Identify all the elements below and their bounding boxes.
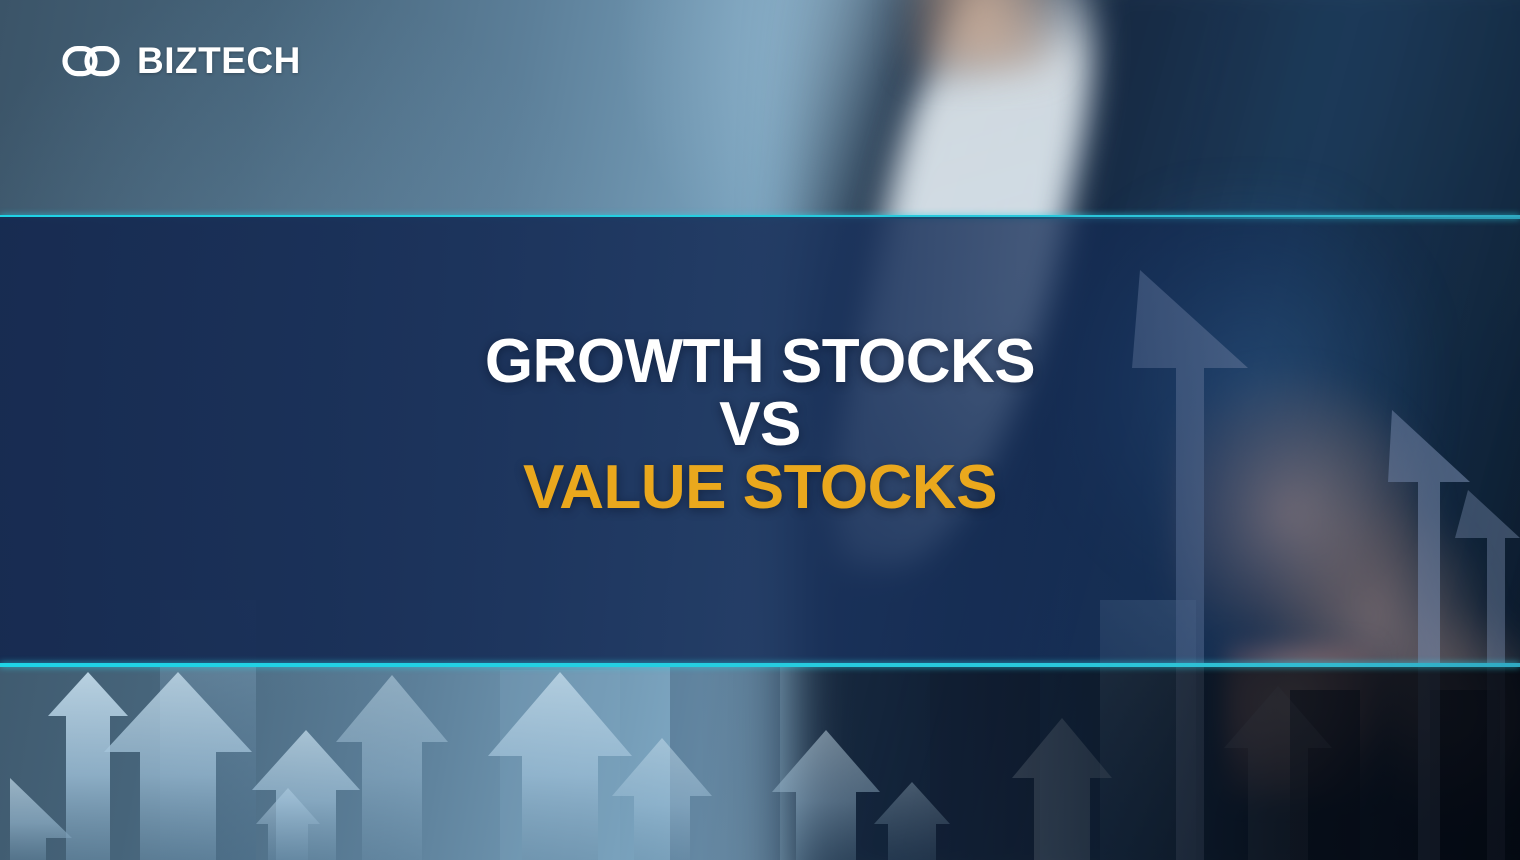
- chain-link-icon: [62, 44, 120, 78]
- page-title: GROWTH STOCKS VS VALUE STOCKS: [0, 330, 1520, 520]
- brand-name: BIZTECH: [137, 42, 301, 79]
- banner-image: BIZTECH GROWTH STOCKS VS VALUE STOCKS: [0, 0, 1520, 860]
- bottom-divider-line: [0, 663, 1520, 667]
- title-line-growth-stocks: GROWTH STOCKS: [0, 330, 1520, 393]
- title-line-value-stocks: VALUE STOCKS: [0, 456, 1520, 519]
- brand-logo[interactable]: BIZTECH: [62, 42, 301, 79]
- title-line-vs: VS: [0, 393, 1520, 456]
